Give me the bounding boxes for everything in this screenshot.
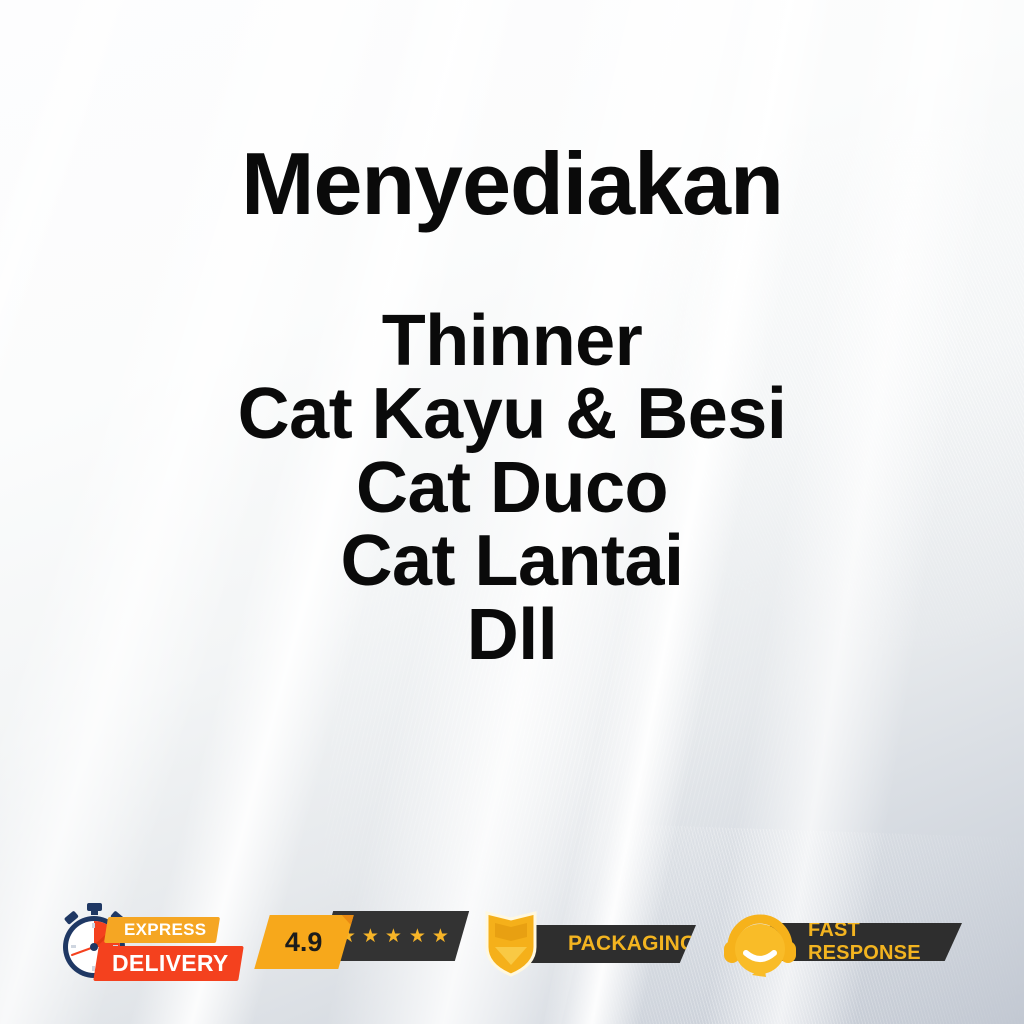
delivery-label: DELIVERY xyxy=(112,950,229,977)
rating-score: 4.9 xyxy=(285,927,323,958)
badge-packaging: PACKAGING xyxy=(483,903,698,993)
star-icon: ★ xyxy=(432,927,449,946)
product-list-item: Cat Duco xyxy=(0,452,1024,525)
product-list-item: Thinner xyxy=(0,305,1024,378)
shield-icon xyxy=(483,907,539,977)
packaging-label: PACKAGING xyxy=(568,932,697,956)
delivery-banner: DELIVERY xyxy=(93,946,243,981)
fast-response-label: FAST RESPONSE xyxy=(808,919,962,965)
packaging-banner: PACKAGING xyxy=(516,925,696,963)
star-icon: ★ xyxy=(362,927,379,946)
express-label: EXPRESS xyxy=(124,920,206,940)
badge-express-delivery: EXPRESS DELIVERY xyxy=(48,895,253,985)
star-icon: ★ xyxy=(409,927,426,946)
star-icon: ★ xyxy=(385,927,402,946)
headset-support-icon xyxy=(722,907,798,983)
badge-rating: ★ ★ ★ ★ ★ 4.9 xyxy=(262,911,462,973)
poster-canvas: Menyediakan Thinner Cat Kayu & Besi Cat … xyxy=(0,0,1024,1024)
rating-score-plate: 4.9 xyxy=(254,915,353,969)
page-title: Menyediakan xyxy=(0,140,1024,228)
product-list-item: Cat Lantai xyxy=(0,525,1024,598)
express-banner: EXPRESS xyxy=(104,917,221,943)
product-list-item: Dll xyxy=(0,599,1024,672)
product-list-item: Cat Kayu & Besi xyxy=(0,378,1024,451)
badge-fast-response: FAST RESPONSE xyxy=(722,901,962,991)
express-delivery-banners: EXPRESS DELIVERY xyxy=(106,917,253,981)
product-list: Thinner Cat Kayu & Besi Cat Duco Cat Lan… xyxy=(0,305,1024,672)
fast-response-banner: FAST RESPONSE xyxy=(770,923,962,961)
trust-badge-bar: EXPRESS DELIVERY ★ ★ ★ ★ ★ 4.9 PA xyxy=(0,895,1024,995)
